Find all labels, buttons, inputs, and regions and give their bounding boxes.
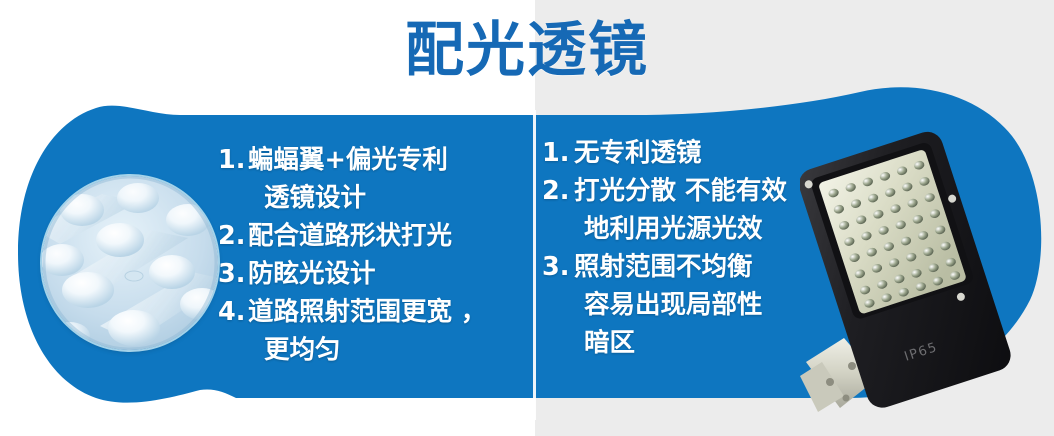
list-item-line: 更均匀 <box>248 331 530 369</box>
list-item-number: 1. <box>218 141 248 179</box>
list-item-line: 无专利透镜 <box>574 138 702 168</box>
list-item-text: 防眩光设计 <box>248 255 530 293</box>
list-item-number: 3. <box>542 248 574 286</box>
list-item-number: 4. <box>218 293 248 331</box>
list-item-line: 透镜设计 <box>248 179 530 217</box>
list-item-text: 照射范围不均衡 容易出现局部性 暗区 <box>574 248 862 362</box>
list-item: 4. 道路照射范围更宽 ， 更均匀 <box>218 293 530 369</box>
list-item-line: 配合道路形状打光 <box>248 221 452 251</box>
list-item-number: 1. <box>542 134 574 172</box>
list-item-line: 照射范围不均衡 <box>574 252 753 282</box>
list-item-text: 打光分散 不能有效 地利用光源光效 <box>574 172 862 248</box>
list-item-line: 打光分散 不能有效 <box>574 176 787 206</box>
lens-array-illustration <box>42 176 218 350</box>
list-item-text: 道路照射范围更宽 ， 更均匀 <box>248 293 530 369</box>
list-item-line: 蝙蝠翼+偏光专利 <box>248 145 448 175</box>
list-item-line: 道路照射范围更宽 ， <box>248 297 486 327</box>
left-feature-list: 1. 蝙蝠翼+偏光专利 透镜设计 2. 配合道路形状打光 3. 防眩光设计 4.… <box>218 141 530 369</box>
list-item-line: 防眩光设计 <box>248 259 376 289</box>
list-item-text: 无专利透镜 <box>574 134 862 172</box>
poster-canvas: IP65 配光透镜 1. 蝙蝠翼+偏光专利 透镜设计 2. 配合道路形状打光 3… <box>0 0 1054 436</box>
list-item: 3. 照射范围不均衡 容易出现局部性 暗区 <box>542 248 862 362</box>
page-title: 配光透镜 <box>0 14 1054 86</box>
list-item: 2. 配合道路形状打光 <box>218 217 530 255</box>
list-item-number: 2. <box>542 172 574 210</box>
list-item-number: 2. <box>218 217 248 255</box>
list-item-line: 地利用光源光效 <box>574 210 862 248</box>
list-item-line: 容易出现局部性 <box>574 286 862 324</box>
right-drawback-list: 1. 无专利透镜 2. 打光分散 不能有效 地利用光源光效 3. 照射范围不均衡… <box>542 134 862 362</box>
list-item: 2. 打光分散 不能有效 地利用光源光效 <box>542 172 862 248</box>
list-item: 1. 蝙蝠翼+偏光专利 透镜设计 <box>218 141 530 217</box>
list-item-number: 3. <box>218 255 248 293</box>
list-item-text: 蝙蝠翼+偏光专利 透镜设计 <box>248 141 530 217</box>
list-item: 3. 防眩光设计 <box>218 255 530 293</box>
list-item-text: 配合道路形状打光 <box>248 217 530 255</box>
column-divider <box>533 110 536 420</box>
led-lens-array-photo <box>42 176 218 350</box>
list-item-line: 暗区 <box>574 324 862 362</box>
list-item: 1. 无专利透镜 <box>542 134 862 172</box>
